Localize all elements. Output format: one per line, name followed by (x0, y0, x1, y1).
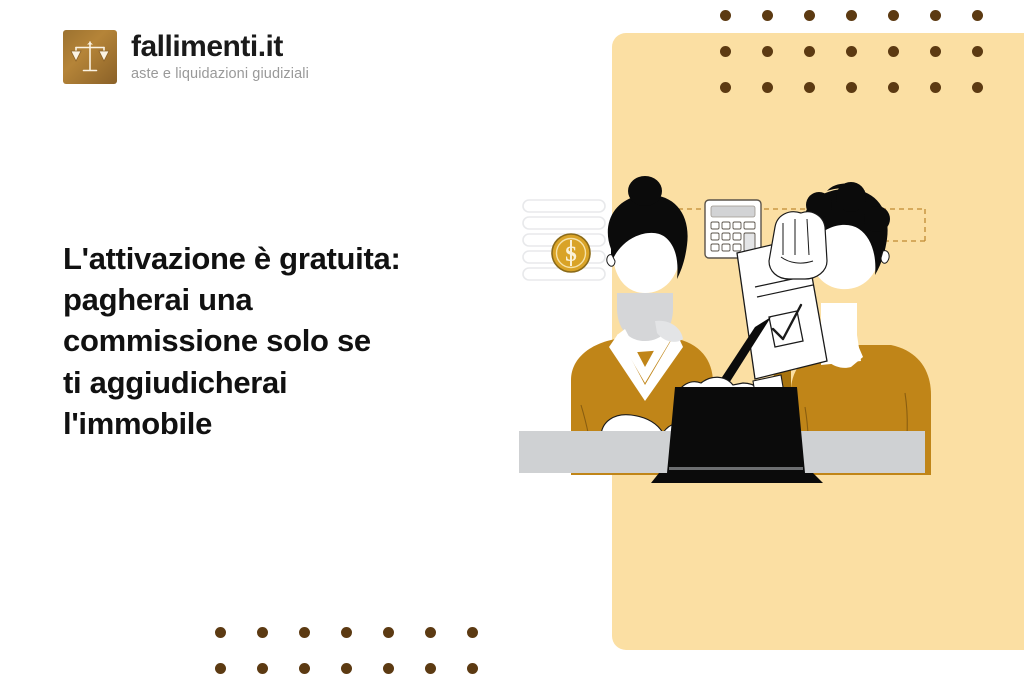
brand-title: fallimenti.it (131, 32, 309, 62)
dollar-coin: S (552, 234, 590, 272)
dot (383, 627, 394, 638)
dot (383, 663, 394, 674)
decorative-dot-grid-top-right (720, 0, 1014, 108)
dot (888, 46, 899, 57)
laptop (651, 387, 823, 483)
dot (762, 82, 773, 93)
dot (930, 82, 941, 93)
dot (720, 10, 731, 21)
dot (341, 663, 352, 674)
dot (846, 82, 857, 93)
dot (215, 627, 226, 638)
dot (762, 10, 773, 21)
dot (930, 10, 941, 21)
dot (467, 627, 478, 638)
dot (972, 82, 983, 93)
dot (804, 10, 815, 21)
dot (804, 46, 815, 57)
decorative-dot-grid-bottom-left (215, 627, 509, 699)
dot (846, 10, 857, 21)
dot (888, 82, 899, 93)
dot (972, 46, 983, 57)
scales-of-justice-icon (63, 30, 117, 84)
dot (467, 663, 478, 674)
dot (804, 82, 815, 93)
dot (425, 663, 436, 674)
dot (888, 10, 899, 21)
dot (425, 627, 436, 638)
brand-logo[interactable]: fallimenti.it aste e liquidazioni giudiz… (63, 30, 309, 84)
dot (846, 46, 857, 57)
dot (720, 46, 731, 57)
page-headline: L'attivazione è gratuita: pagherai una c… (63, 238, 483, 444)
dot (257, 663, 268, 674)
hand-holding-document (769, 212, 827, 279)
dot (299, 663, 310, 674)
dot (762, 46, 773, 57)
dot (930, 46, 941, 57)
dot (972, 10, 983, 21)
dot (299, 627, 310, 638)
brand-tagline: aste e liquidazioni giudiziali (131, 67, 309, 82)
dot (720, 82, 731, 93)
two-people-signing-document-illustration: S (505, 175, 945, 485)
dot (215, 663, 226, 674)
dot (257, 627, 268, 638)
dot (341, 627, 352, 638)
